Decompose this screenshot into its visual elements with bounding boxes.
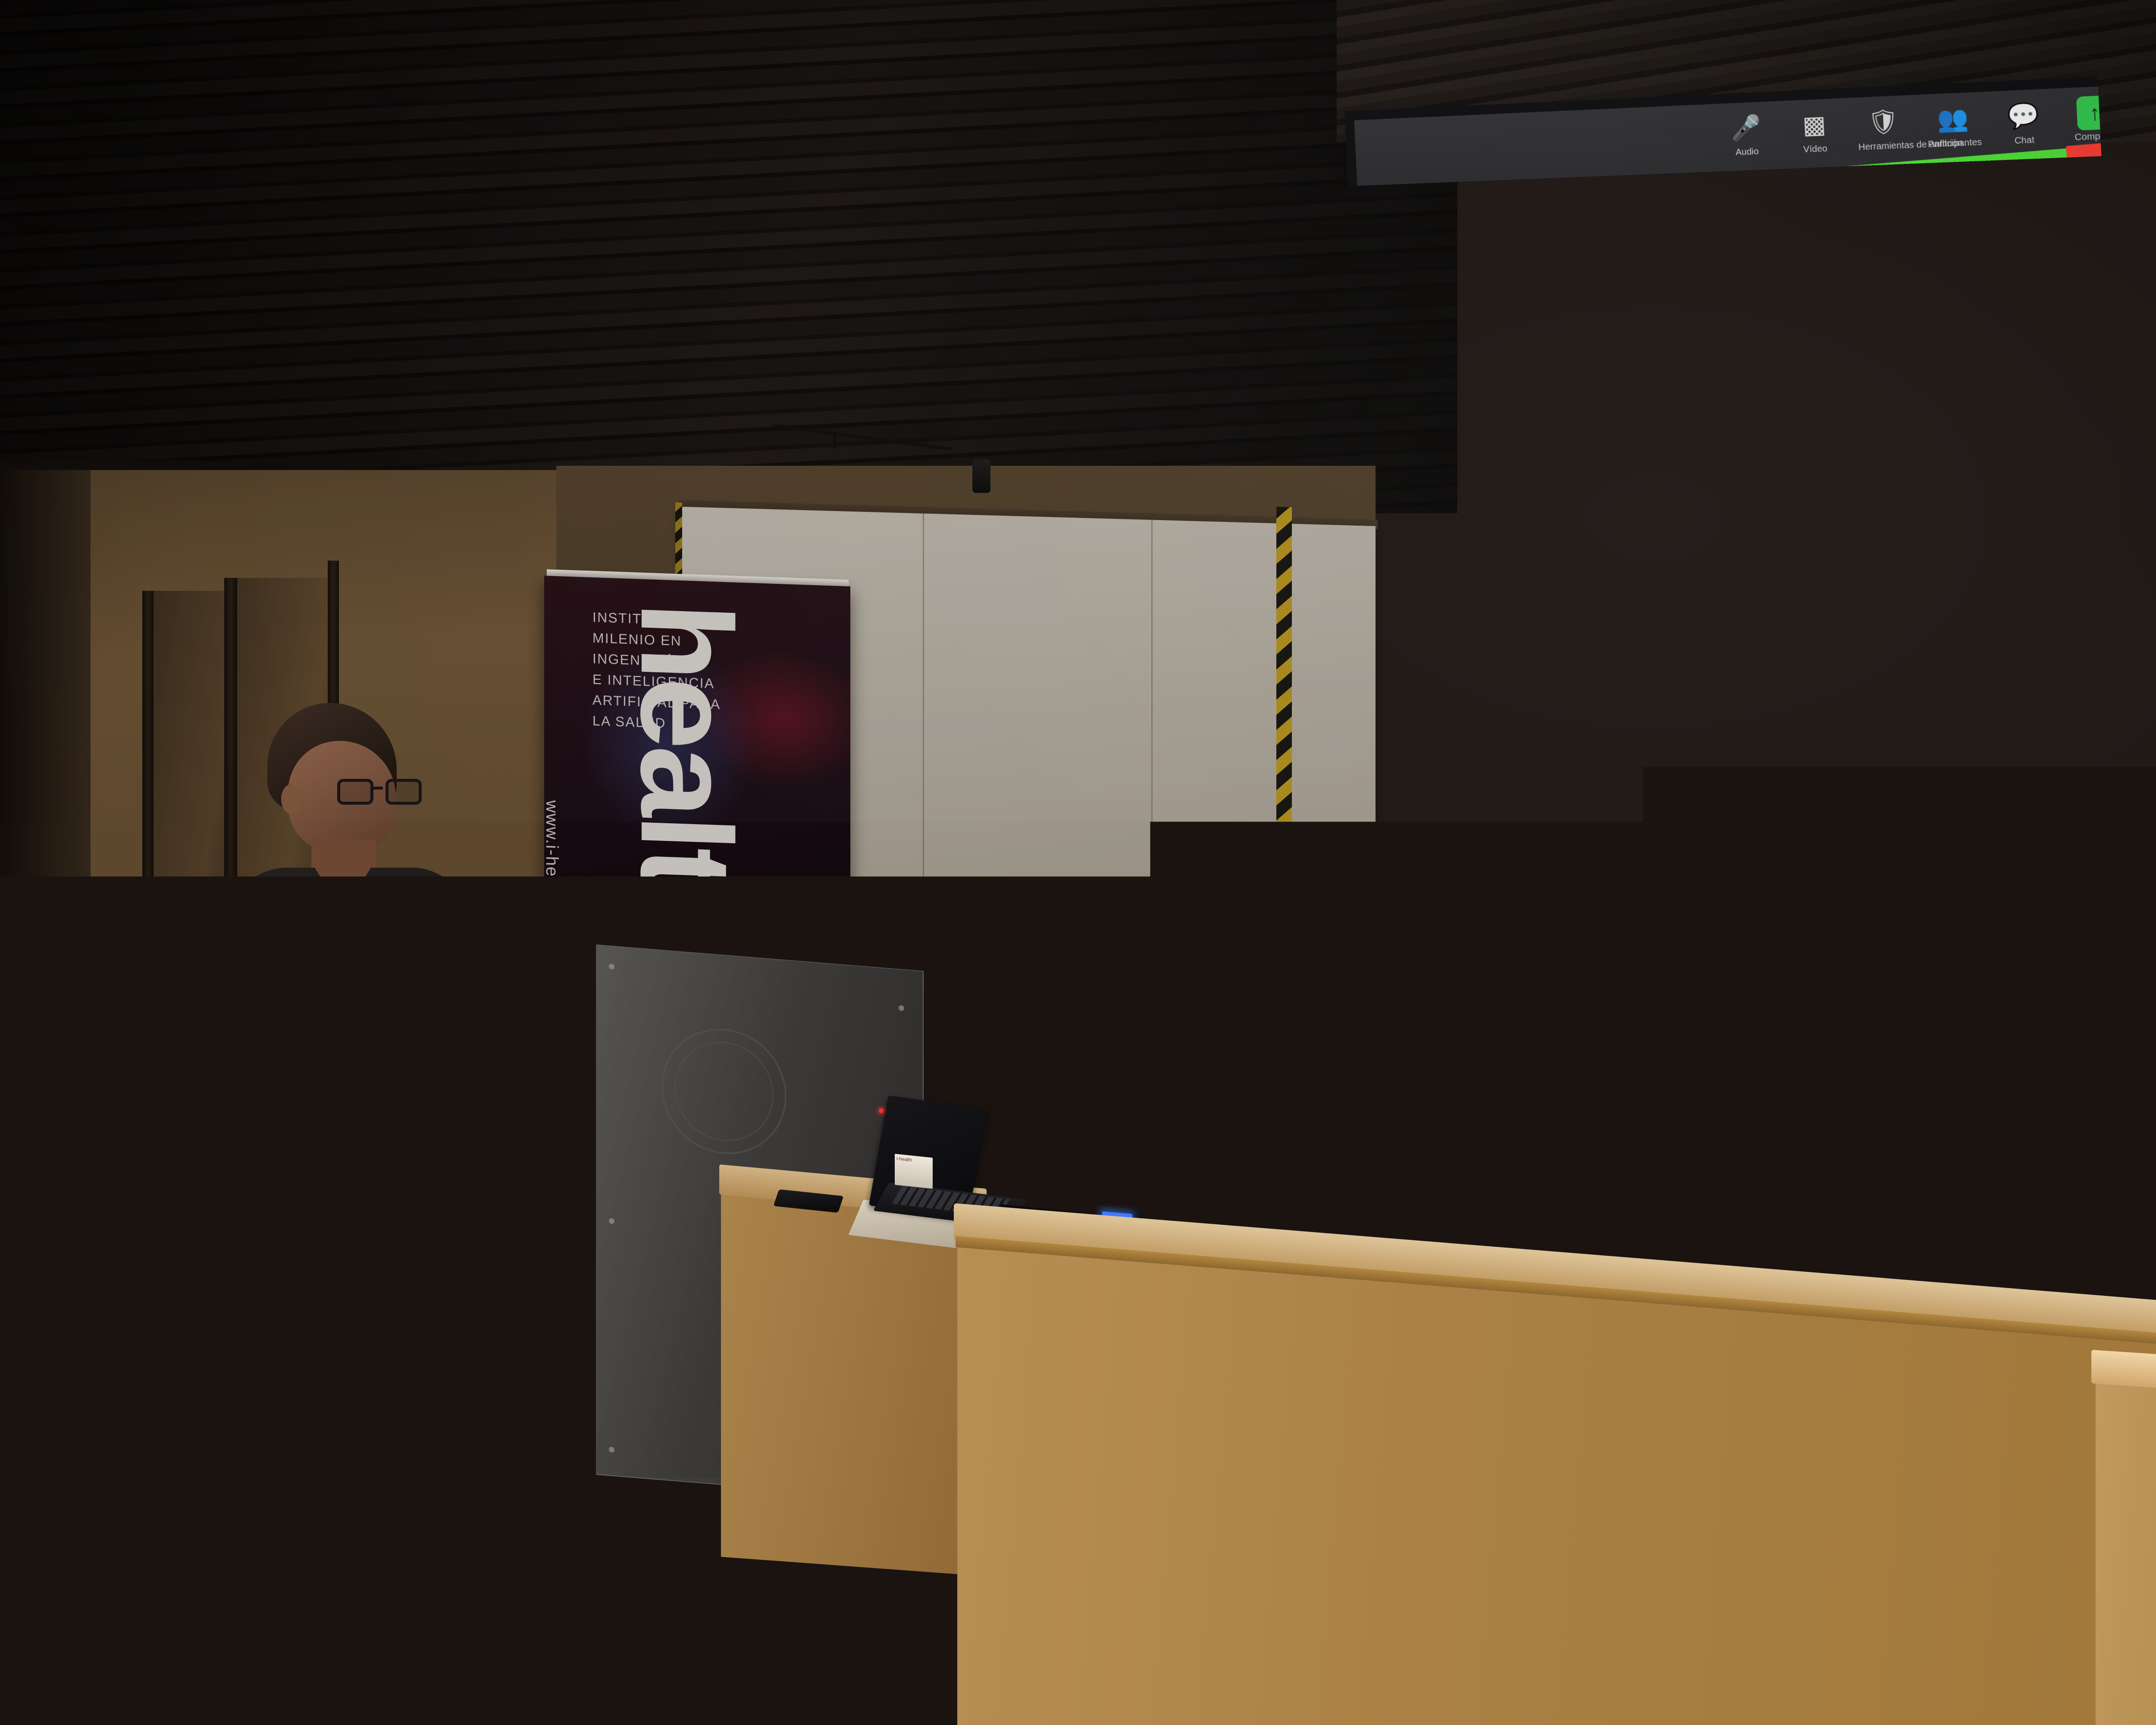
zoom-chat-button[interactable]: 💬 Chat <box>1996 95 2051 147</box>
handrail-post <box>2113 1143 2117 1183</box>
university-logo: ★ ★ ★ ★ ★ Universidad de Valparaíso CHIL… <box>1417 948 1615 1001</box>
zoom-participants-button[interactable]: 👥 Participantes <box>1926 98 1981 150</box>
zoom-host-tools-button[interactable]: 🛡 Herramientas de anfitrión <box>1856 101 1910 153</box>
presenter-ear <box>281 784 302 814</box>
handrail-post <box>1768 1120 1772 1160</box>
annotate-small-icon: ✎ <box>1879 173 1890 188</box>
desk-right-block <box>2096 1371 2156 1725</box>
shield-icon: 🛡 <box>1856 101 1910 142</box>
projected-image: 🎤 Audio ▩ Vídeo 🛡 Herramientas de anfitr… <box>1354 75 2156 1064</box>
camera-icon: ▩ <box>1788 105 1841 145</box>
figure-captions: Figure 1:a) General anatomy of the bone,… <box>1525 941 2156 1008</box>
bone-shaft <box>1389 310 1430 553</box>
university-name-line2: de Valparaíso <box>1460 968 1573 989</box>
bone-distal-end <box>1385 530 1443 592</box>
hazard-tape-right <box>1276 507 1292 1063</box>
presentation-clicker[interactable] <box>492 1116 519 1132</box>
collagen-fiber-top <box>1761 265 1786 297</box>
microphone-icon <box>972 459 990 493</box>
ceiling-slats <box>0 0 1457 513</box>
presenter <box>185 703 539 1652</box>
dim-label-left: Ct.Th <box>2087 588 2131 608</box>
red-arrow-icon <box>2006 556 2064 599</box>
slide-corner-dot <box>1410 1048 1426 1063</box>
projection-screen: 🎤 Audio ▩ Vídeo 🛡 Herramientas de anfitr… <box>1344 64 2156 1110</box>
red-arrow-icon <box>1827 385 1874 440</box>
red-arrow-icon <box>1717 393 1762 447</box>
slide-body: Cortical Thickness (Ct.Th) Diaphysis of … <box>1361 239 2156 1064</box>
presenter-shoe-left <box>221 1531 324 1587</box>
pause-small-icon: ⏸ <box>1865 175 1872 189</box>
red-arrow-icon <box>1640 561 1696 605</box>
thickness-note: Thickness: 3–7 mm <box>2046 711 2156 734</box>
screen-brand-plate <box>1896 1025 1922 1041</box>
stop-share-label: Dejar de compartir <box>2090 146 2156 168</box>
shield-stars-icon: ★ ★ ★ ★ ★ <box>1417 948 1454 997</box>
zoom-audio-button[interactable]: 🎤 Audio <box>1720 108 1773 159</box>
share-screen-icon: ↑ <box>2076 95 2113 131</box>
university-name-line1: Universidad <box>1459 950 1572 971</box>
pause-icon: ❙❙ <box>2139 89 2156 131</box>
red-arrow-icon <box>1466 393 1520 436</box>
banner-url: www.i-health.cl <box>544 800 561 928</box>
door-frame-1 <box>142 591 154 1130</box>
zoom-video-button[interactable]: ▩ Vídeo <box>1788 105 1841 156</box>
laptop-status-led-icon <box>879 1108 884 1113</box>
slide-number: 1-22 <box>1385 232 1422 253</box>
slide-title: Introduction and Social Context <box>1459 212 1851 255</box>
osteon-cross-rings <box>1511 749 1636 869</box>
banner-wordmark: health <box>622 600 751 965</box>
bone-micrograph-inset <box>1394 783 1491 928</box>
cortical-thickness-heading: Cortical Thickness (Ct.Th) <box>2002 272 2156 355</box>
porous-bone-zone <box>1676 714 1829 894</box>
stop-square-icon: ■ <box>2076 154 2085 169</box>
dimension-arrow-horizontal <box>2084 563 2156 579</box>
lamellar-bone-block <box>1863 267 1948 399</box>
chat-icon: 💬 <box>1996 95 2051 137</box>
handrail-post <box>1397 1095 1401 1135</box>
zoom-pause-button[interactable]: ❙❙ Pausar <box>2139 89 2156 141</box>
university-seal-icon <box>661 1024 787 1159</box>
microphone-icon: 🎤 <box>1720 108 1773 148</box>
participants-icon: 👥 <box>1926 98 1980 139</box>
handrail-post <box>1069 1075 1073 1115</box>
name-card: i-health <box>895 1154 933 1189</box>
diaphysis-subheading: Diaphysis of Long Bone <box>2006 364 2156 398</box>
zoom-share-button[interactable]: ↑ Compartir <box>2067 92 2122 143</box>
presenter-jeans <box>235 1203 442 1557</box>
lecture-hall-scene: INSTITUTO MILENIO EN INGENIERÍA E INTELI… <box>0 0 2156 1725</box>
projection-screen-area: 🎤 Audio ▩ Vídeo 🛡 Herramientas de anfitr… <box>1337 4 2156 1082</box>
glasses-icon <box>337 779 422 805</box>
